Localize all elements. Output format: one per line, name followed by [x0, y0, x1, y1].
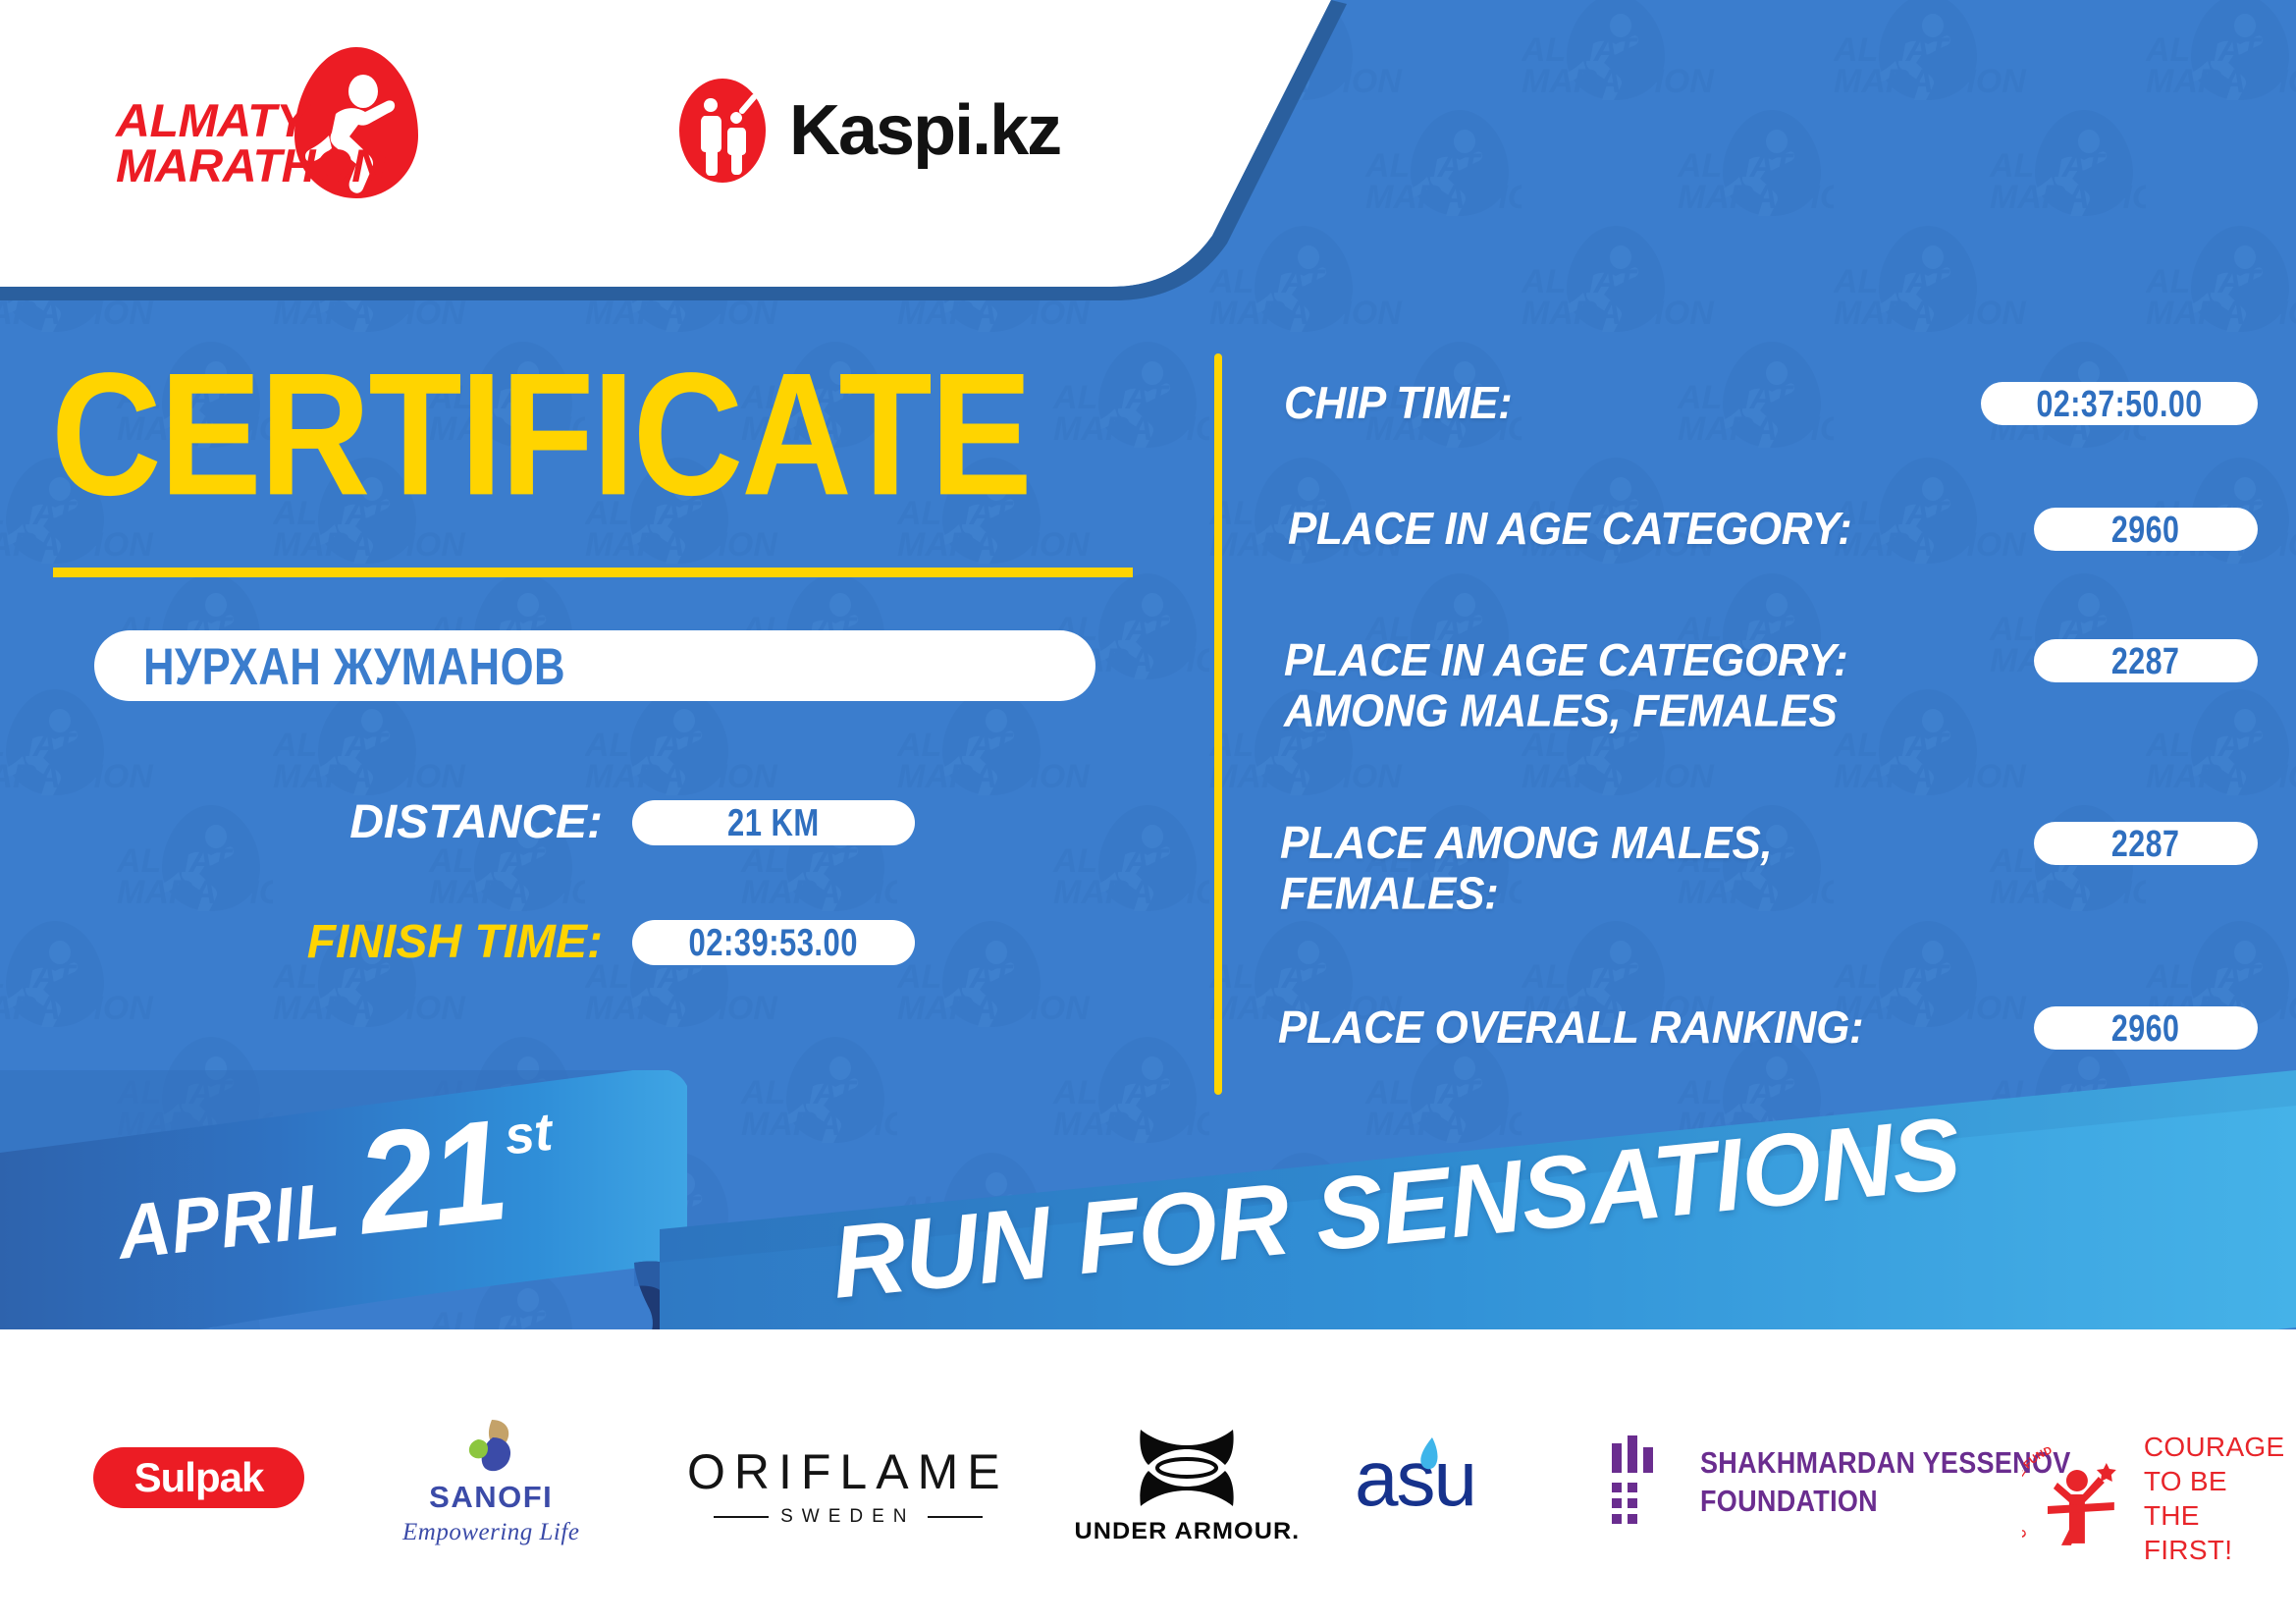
- asu-wordmark: asu: [1355, 1439, 1475, 1518]
- almaty-marathon-logo: ALMATY MARATHON: [116, 45, 440, 212]
- result-row-chip-time: CHIP TIME: 02:37:50.00: [1266, 378, 2258, 426]
- result-row-place-overall-ranking: PLACE OVERALL RANKING: 2960: [1266, 1002, 2258, 1051]
- courage-arc-text: CORPORATE FUND: [2022, 1445, 2054, 1540]
- place-age-category-value: 2960: [2111, 508, 2180, 551]
- asu-drop-icon: [1419, 1437, 1441, 1471]
- sulpak-wordmark: Sulpak: [134, 1454, 264, 1501]
- result-row-place-among-males-females: PLACE AMONG MALES, FEMALES: 2287: [1266, 818, 2258, 915]
- sanofi-tagline: Empowering Life: [402, 1519, 579, 1546]
- certificate-title: CERTIFICATE: [51, 348, 1031, 522]
- result-row-place-age-category-among: PLACE IN AGE CATEGORY: AMONG MALES, FEMA…: [1266, 635, 2258, 732]
- kaspi-figure-icon: [677, 77, 768, 185]
- sulpak-logo: Sulpak: [93, 1447, 304, 1508]
- finish-time-label: FINISH TIME:: [269, 915, 603, 969]
- distance-label: DISTANCE:: [269, 795, 603, 849]
- result-row-place-age-category: PLACE IN AGE CATEGORY: 2960: [1266, 504, 2258, 552]
- almaty-marathon-wordmark: ALMATY MARATHON: [116, 98, 386, 189]
- yessenov-line-2: FOUNDATION: [1700, 1483, 2071, 1521]
- finish-time-value: 02:39:53.00: [689, 920, 858, 964]
- oriflame-rule-left: [714, 1516, 769, 1518]
- place-age-category-value-pill: 2960: [2034, 508, 2258, 551]
- participant-name-field: НУРХАН ЖУМАНОВ: [94, 630, 1095, 701]
- sponsor-courage-fund: CORPORATE FUND COURAGE TO BE THE FIRST!: [2022, 1430, 2296, 1567]
- sponsor-strip: Sulpak SANOFI Empowering Life ORIFLAME S…: [0, 1414, 2296, 1591]
- certificate-page: ALMATY MARATHON Kaspi.kz CERTIFICATE НУР…: [0, 0, 2296, 1624]
- place-overall-ranking-value-pill: 2960: [2034, 1006, 2258, 1050]
- oriflame-wordmark: ORIFLAME: [687, 1447, 1009, 1496]
- courage-line-1: COURAGE: [2144, 1430, 2296, 1464]
- under-armour-icon: [1133, 1428, 1241, 1508]
- yessenov-line-1: SHAKHMARDAN YESSENOV: [1700, 1444, 2071, 1483]
- chip-time-value: 02:37:50.00: [2036, 382, 2202, 425]
- distance-value: 21 KM: [727, 800, 820, 844]
- vertical-divider: [1214, 353, 1222, 1095]
- place-overall-ranking-value: 2960: [2111, 1006, 2180, 1050]
- oriflame-rule-right: [928, 1516, 983, 1518]
- place-age-category-among-label: PLACE IN AGE CATEGORY: AMONG MALES, FEMA…: [1266, 635, 1895, 736]
- title-underline: [53, 568, 1133, 577]
- sponsor-under-armour: UNDER ARMOUR.: [1080, 1428, 1295, 1545]
- finish-time-value-pill: 02:39:53.00: [632, 920, 915, 965]
- courage-runner-icon: CORPORATE FUND: [2022, 1445, 2130, 1551]
- place-age-category-among-value-pill: 2287: [2034, 639, 2258, 682]
- place-age-category-among-value: 2287: [2111, 639, 2180, 682]
- oriflame-tagline: SWEDEN: [780, 1506, 915, 1528]
- oriflame-sub: SWEDEN: [714, 1506, 982, 1528]
- ribbon-day-suffix: st: [502, 1102, 555, 1167]
- kaspi-wordmark: Kaspi.kz: [789, 95, 1060, 166]
- almaty-marathon-line-1: ALMATY: [116, 98, 386, 143]
- distance-row: DISTANCE: 21 KM: [269, 795, 915, 849]
- header-logos: ALMATY MARATHON Kaspi.kz: [0, 0, 1276, 285]
- courage-line-3: THE FIRST!: [2144, 1498, 2296, 1567]
- ribbon-day: 21: [351, 1106, 511, 1250]
- courage-line-2: TO BE: [2144, 1464, 2296, 1498]
- place-among-males-females-value-pill: 2287: [2034, 822, 2258, 865]
- yessenov-icon: [1610, 1435, 1675, 1530]
- yessenov-wordmark: SHAKHMARDAN YESSENOV FOUNDATION: [1700, 1444, 2071, 1522]
- sponsor-sulpak: Sulpak: [93, 1447, 304, 1508]
- under-armour-wordmark: UNDER ARMOUR.: [1075, 1518, 1301, 1545]
- participant-name: НУРХАН ЖУМАНОВ: [143, 635, 565, 696]
- asu-text: asu: [1355, 1435, 1475, 1522]
- sanofi-icon: [460, 1418, 521, 1475]
- finish-time-row: FINISH TIME: 02:39:53.00: [269, 915, 915, 969]
- almaty-marathon-line-2: MARATHON: [116, 143, 386, 189]
- distance-value-pill: 21 KM: [632, 800, 915, 845]
- courage-wordmark: COURAGE TO BE THE FIRST!: [2144, 1430, 2296, 1567]
- svg-text:CORPORATE FUND: CORPORATE FUND: [2022, 1445, 2054, 1540]
- place-among-males-females-value: 2287: [2111, 822, 2180, 865]
- sponsor-yessenov-foundation: SHAKHMARDAN YESSENOV FOUNDATION: [1610, 1435, 2071, 1530]
- sanofi-wordmark: SANOFI: [429, 1480, 553, 1515]
- place-among-males-females-label: PLACE AMONG MALES, FEMALES:: [1266, 818, 1816, 919]
- chip-time-value-pill: 02:37:50.00: [1981, 382, 2258, 425]
- sponsor-asu: asu: [1355, 1439, 1475, 1518]
- sponsor-oriflame: ORIFLAME SWEDEN: [687, 1447, 1009, 1528]
- kaspi-logo: Kaspi.kz: [677, 77, 1060, 185]
- sponsor-sanofi: SANOFI Empowering Life: [402, 1418, 579, 1546]
